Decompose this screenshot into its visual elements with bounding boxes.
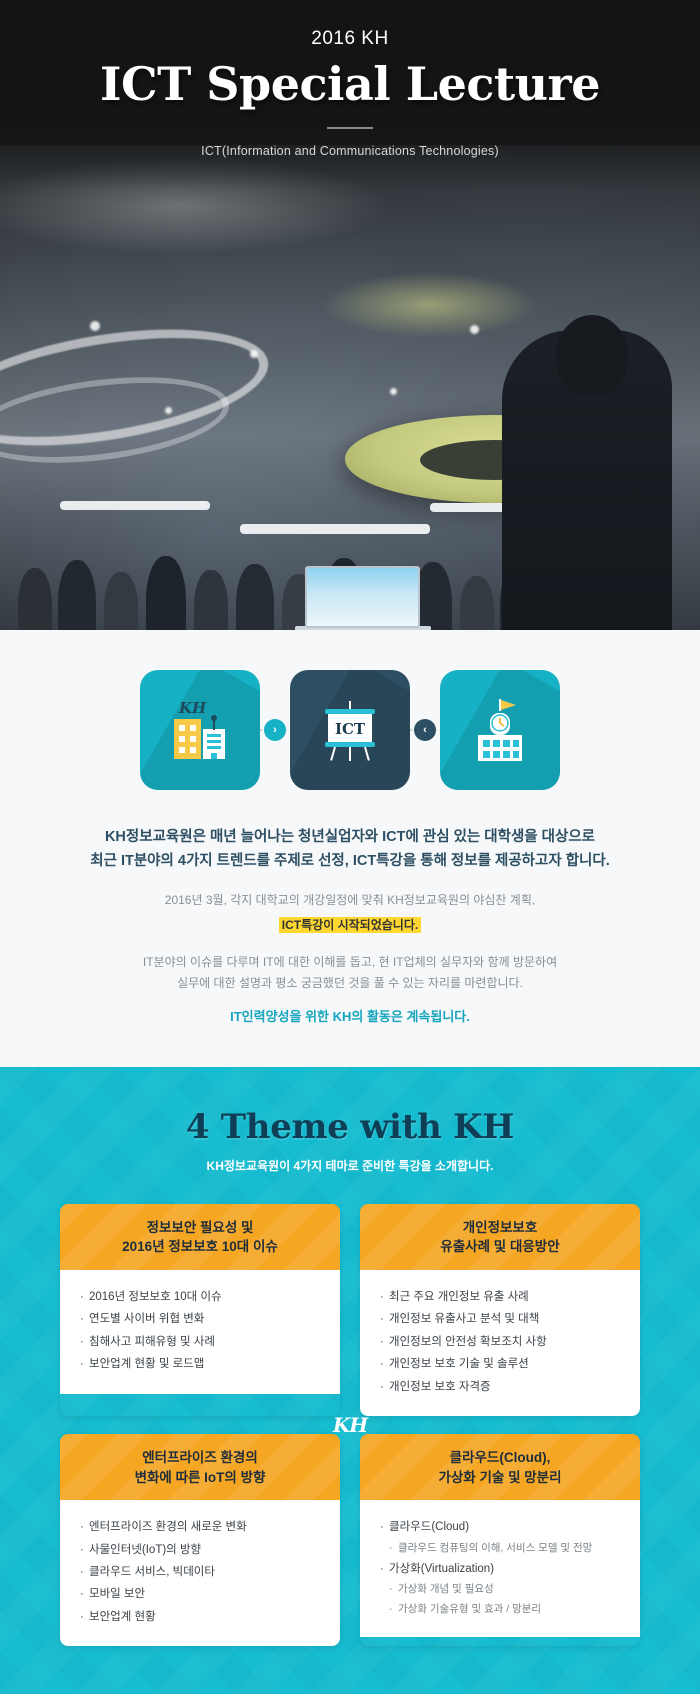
icon-card-ict: ICT: [290, 670, 410, 790]
intro-cta-text: IT인력양성을 위한 KH의 활동은 계속됩니다.: [0, 1006, 700, 1025]
arrow-right-icon: ›: [264, 719, 286, 741]
list-item: 침해사고 피해유형 및 사례: [80, 1331, 320, 1353]
theme-card-3-title-line1: 엔터프라이즈 환경의: [142, 1450, 258, 1465]
list-item: 연도별 사이버 위협 변화: [80, 1308, 320, 1330]
svg-text:ICT: ICT: [335, 720, 366, 738]
intro-paragraph-1: 2016년 3월, 각지 대학교의 개강일정에 맞춰 KH정보교육원의 야심찬 …: [0, 890, 700, 936]
theme-card-1-header: 정보보안 필요성 및 2016년 정보보호 10대 이슈: [60, 1204, 340, 1270]
page-title: ICT Special Lecture: [0, 57, 700, 111]
theme-card-1-body: 2016년 정보보호 10대 이슈 연도별 사이버 위협 변화 침해사고 피해유…: [60, 1270, 340, 1394]
connector-left: ›: [260, 719, 290, 741]
theme-card-1[interactable]: 정보보안 필요성 및 2016년 정보보호 10대 이슈 2016년 정보보호 …: [60, 1204, 340, 1416]
icon-card-company: KH: [140, 670, 260, 790]
theme-card-3[interactable]: 엔터프라이즈 환경의 변화에 따른 IoT의 방향 엔터프라이즈 환경의 새로운…: [60, 1434, 340, 1646]
theme-card-grid: 정보보안 필요성 및 2016년 정보보호 10대 이슈 2016년 정보보호 …: [60, 1204, 640, 1646]
intro-section: KH › ICT: [0, 630, 700, 1067]
intro-headline-line1: KH정보교육원은 매년 늘어나는 청년실업자와 ICT에 관심 있는 대학생을 …: [0, 826, 700, 850]
list-item-sub: 가상화 개념 및 필요성: [380, 1580, 620, 1599]
theme-card-1-title-line1: 정보보안 필요성 및: [147, 1220, 254, 1235]
list-item: 2016년 정보보호 10대 이슈: [80, 1286, 320, 1308]
theme-card-1-title-line2: 2016년 정보보호 10대 이슈: [122, 1239, 278, 1254]
highlighted-text: ICT특강이 시작되었습니다.: [279, 917, 421, 933]
ict-presentation-board-icon: ICT: [313, 693, 387, 767]
company-building-icon: KH: [163, 693, 237, 767]
svg-text:KH: KH: [178, 699, 207, 717]
theme-card-4-title-line2: 가상화 기술 및 망분리: [438, 1470, 561, 1485]
list-item: 사물인터넷(IoT)의 방향: [80, 1539, 320, 1561]
list-item-sub: 가상화 기술유형 및 효과 / 망분리: [380, 1600, 620, 1619]
theme-card-3-header: 엔터프라이즈 환경의 변화에 따른 IoT의 방향: [60, 1434, 340, 1500]
theme-card-4-title-line1: 클라우드(Cloud),: [450, 1450, 551, 1465]
hero-kicker: 2016 KH: [0, 28, 700, 50]
list-item: 개인정보 유출사고 분석 및 대책: [380, 1308, 620, 1330]
list-item: 클라우드 서비스, 빅데이타: [80, 1561, 320, 1583]
intro-headline: KH정보교육원은 매년 늘어나는 청년실업자와 ICT에 관심 있는 대학생을 …: [0, 826, 700, 874]
list-item: 개인정보 보호 기술 및 솔루션: [380, 1353, 620, 1375]
theme-card-2-body: 최근 주요 개인정보 유출 사례 개인정보 유출사고 분석 및 대책 개인정보의…: [360, 1270, 640, 1416]
kh-logo-mark: KH: [333, 1413, 367, 1437]
themes-title: 4 Theme with KH: [0, 1107, 700, 1147]
theme-card-2[interactable]: 개인정보보호 유출사례 및 대응방안 최근 주요 개인정보 유출 사례 개인정보…: [360, 1204, 640, 1416]
list-item: 엔터프라이즈 환경의 새로운 변화: [80, 1516, 320, 1538]
connector-right: ‹: [410, 719, 440, 741]
theme-card-2-title-line2: 유출사례 및 대응방안: [440, 1239, 559, 1254]
list-item: 보안업계 현황 및 로드맵: [80, 1353, 320, 1375]
intro-para2-line1: IT분야의 이슈를 다루며 IT에 대한 이해를 돕고, 현 IT업체의 실무자…: [0, 952, 700, 973]
list-item: 가상화(Virtualization): [380, 1558, 620, 1580]
intro-paragraph-2: IT분야의 이슈를 다루며 IT에 대한 이해를 돕고, 현 IT업체의 실무자…: [0, 952, 700, 994]
list-item: 개인정보 보호 자격증: [380, 1376, 620, 1398]
list-item: 모바일 보안: [80, 1583, 320, 1605]
list-item: 최근 주요 개인정보 유출 사례: [380, 1286, 620, 1308]
hero-banner: 2016 KH ICT Special Lecture ICT(Informat…: [0, 0, 700, 630]
theme-card-4-header: 클라우드(Cloud), 가상화 기술 및 망분리: [360, 1434, 640, 1500]
theme-card-4[interactable]: 클라우드(Cloud), 가상화 기술 및 망분리 클라우드(Cloud) 클라…: [360, 1434, 640, 1646]
list-item: 개인정보의 안전성 확보조치 사항: [380, 1331, 620, 1353]
theme-card-3-title-line2: 변화에 따른 IoT의 방향: [135, 1470, 266, 1485]
theme-card-2-header: 개인정보보호 유출사례 및 대응방안: [360, 1204, 640, 1270]
intro-para1-line1: 2016년 3월, 각지 대학교의 개강일정에 맞춰 KH정보교육원의 야심찬 …: [0, 890, 700, 911]
hero-subtitle: ICT(Information and Communications Techn…: [0, 144, 700, 158]
intro-para2-line2: 실무에 대한 설명과 평소 궁금했던 것을 풀 수 있는 자리를 마련합니다.: [0, 973, 700, 994]
process-icon-row: KH › ICT: [140, 670, 560, 790]
arrow-left-icon: ‹: [414, 719, 436, 741]
theme-card-4-body: 클라우드(Cloud) 클라우드 컴퓨팅의 이해, 서비스 모델 및 전망 가상…: [360, 1500, 640, 1637]
school-clock-tower-icon: [463, 693, 537, 767]
themes-subtitle: KH정보교육원이 4가지 테마로 준비한 특강을 소개합니다.: [0, 1157, 700, 1174]
intro-headline-line2: 최근 IT분야의 4가지 트렌드를 주제로 선정, ICT특강을 통해 정보를 …: [0, 850, 700, 874]
list-item: 클라우드(Cloud): [380, 1516, 620, 1538]
themes-section: 4 Theme with KH KH정보교육원이 4가지 테마로 준비한 특강을…: [0, 1067, 700, 1694]
title-divider: [327, 127, 373, 129]
theme-card-3-body: 엔터프라이즈 환경의 새로운 변화 사물인터넷(IoT)의 방향 클라우드 서비…: [60, 1500, 340, 1646]
list-item-sub: 클라우드 컴퓨팅의 이해, 서비스 모델 및 전망: [380, 1539, 620, 1558]
theme-card-2-title-line1: 개인정보보호: [463, 1220, 538, 1235]
list-item: 보안업계 현황: [80, 1606, 320, 1628]
intro-para1-highlight-wrap: ICT특강이 시작되었습니다.: [0, 915, 700, 936]
icon-card-school: [440, 670, 560, 790]
